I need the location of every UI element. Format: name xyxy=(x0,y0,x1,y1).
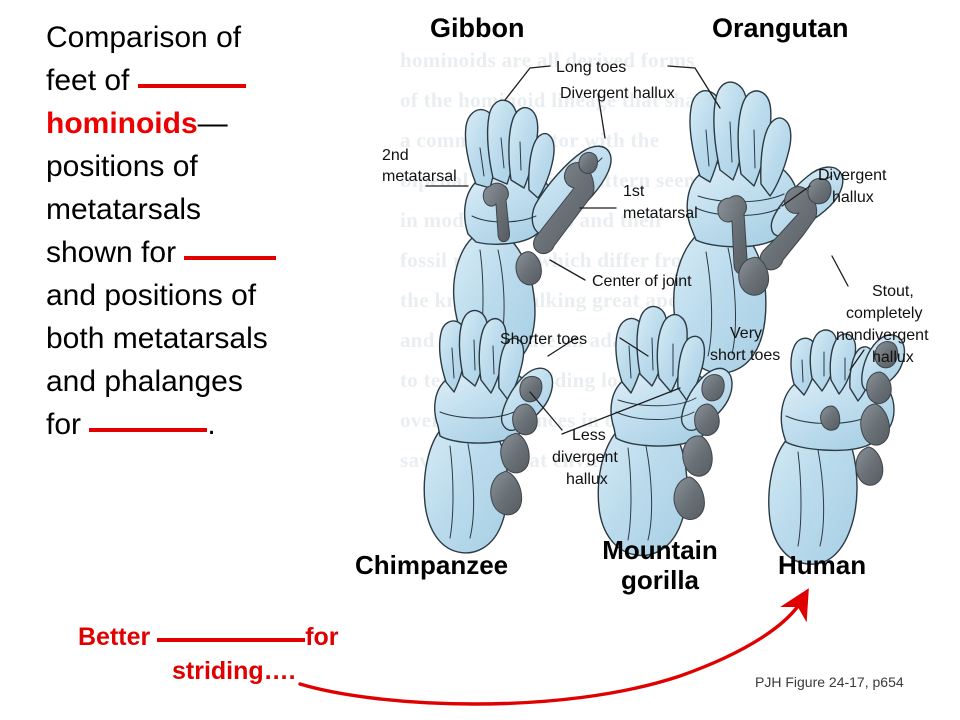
body-line-4-text: positions of xyxy=(46,150,198,183)
label-2nd-metatarsal-line1: 2nd xyxy=(382,147,409,164)
body-line-1-text: Comparison of xyxy=(46,21,241,54)
caption-orangutan: Orangutan xyxy=(712,13,902,43)
caption-mountain-gorilla-line2: gorilla xyxy=(585,565,735,595)
fill-blank-1[interactable] xyxy=(138,84,246,88)
striding-note-line-2: striding…. xyxy=(172,654,296,688)
body-line-6-text: shown for xyxy=(46,236,184,269)
fill-blank-2[interactable] xyxy=(184,256,276,260)
striding-note-pre: Better xyxy=(78,623,157,651)
body-line-1: Comparison of xyxy=(46,16,376,59)
hominoid-feet-figure: Long toes Divergent hallux 2nd metatarsa… xyxy=(380,38,960,568)
body-line-2: feet of xyxy=(46,59,376,102)
label-divergent-hallux-orang-line1: Divergent xyxy=(818,167,887,184)
label-very-short-toes-line2: short toes xyxy=(710,347,780,364)
fill-blank-3[interactable] xyxy=(89,428,207,432)
body-line-8: both metatarsals xyxy=(46,317,376,360)
caption-chimpanzee: Chimpanzee xyxy=(355,550,555,580)
body-line-5-text: metatarsals xyxy=(46,193,201,226)
body-line-10: for . xyxy=(46,403,376,446)
label-less-divergent-line2: divergent xyxy=(552,449,618,466)
body-line-9-text: and phalanges xyxy=(46,365,243,398)
striding-note-post: for xyxy=(305,623,338,651)
body-line-7-text: and positions of xyxy=(46,279,256,312)
label-1st-metatarsal-line1: 1st xyxy=(623,183,645,200)
slide-body-text: Comparison of feet of hominoids— positio… xyxy=(46,16,376,446)
label-less-divergent-line1: Less xyxy=(572,427,606,444)
label-stout-line2: completely xyxy=(846,305,922,322)
body-line-9: and phalanges xyxy=(46,360,376,403)
body-line-3: hominoids— xyxy=(46,102,376,145)
fill-blank-striding[interactable] xyxy=(157,638,305,642)
hominoids-keyword: hominoids xyxy=(46,107,198,140)
slide-canvas: hominoids are all derived forms of the h… xyxy=(0,0,960,720)
arrow-path xyxy=(300,600,802,704)
body-line-5: metatarsals xyxy=(46,188,376,231)
striding-note-line-1: Better for xyxy=(78,620,339,654)
body-line-10-text: for xyxy=(46,408,89,441)
body-line-6: shown for xyxy=(46,231,376,274)
body-line-2-text: feet of xyxy=(46,64,138,97)
label-stout-line1: Stout, xyxy=(872,283,914,300)
label-1st-metatarsal-line2: metatarsal xyxy=(623,205,698,222)
period: . xyxy=(207,408,215,441)
caption-gibbon: Gibbon xyxy=(430,13,580,43)
caption-mountain-gorilla: Mountain gorilla xyxy=(585,535,735,595)
label-shorter-toes: Shorter toes xyxy=(500,331,587,348)
caption-human: Human xyxy=(778,550,908,580)
label-divergent-hallux-gibbon: Divergent hallux xyxy=(560,85,675,102)
body-line-7: and positions of xyxy=(46,274,376,317)
label-very-short-toes-line1: Very xyxy=(730,325,762,342)
label-long-toes: Long toes xyxy=(556,59,626,76)
label-stout-line4: hallux xyxy=(872,349,914,366)
body-line-4: positions of xyxy=(46,145,376,188)
label-less-divergent-line3: hallux xyxy=(566,471,608,488)
label-stout-line3: nondivergent xyxy=(836,327,929,344)
label-center-of-joint: Center of joint xyxy=(592,273,692,290)
em-dash: — xyxy=(198,107,228,140)
body-line-8-text: both metatarsals xyxy=(46,322,268,355)
caption-mountain-gorilla-line1: Mountain xyxy=(585,535,735,565)
label-2nd-metatarsal-line2: metatarsal xyxy=(382,168,457,185)
figure-credit: PJH Figure 24-17, p654 xyxy=(755,674,904,690)
label-divergent-hallux-orang-line2: hallux xyxy=(832,189,874,206)
